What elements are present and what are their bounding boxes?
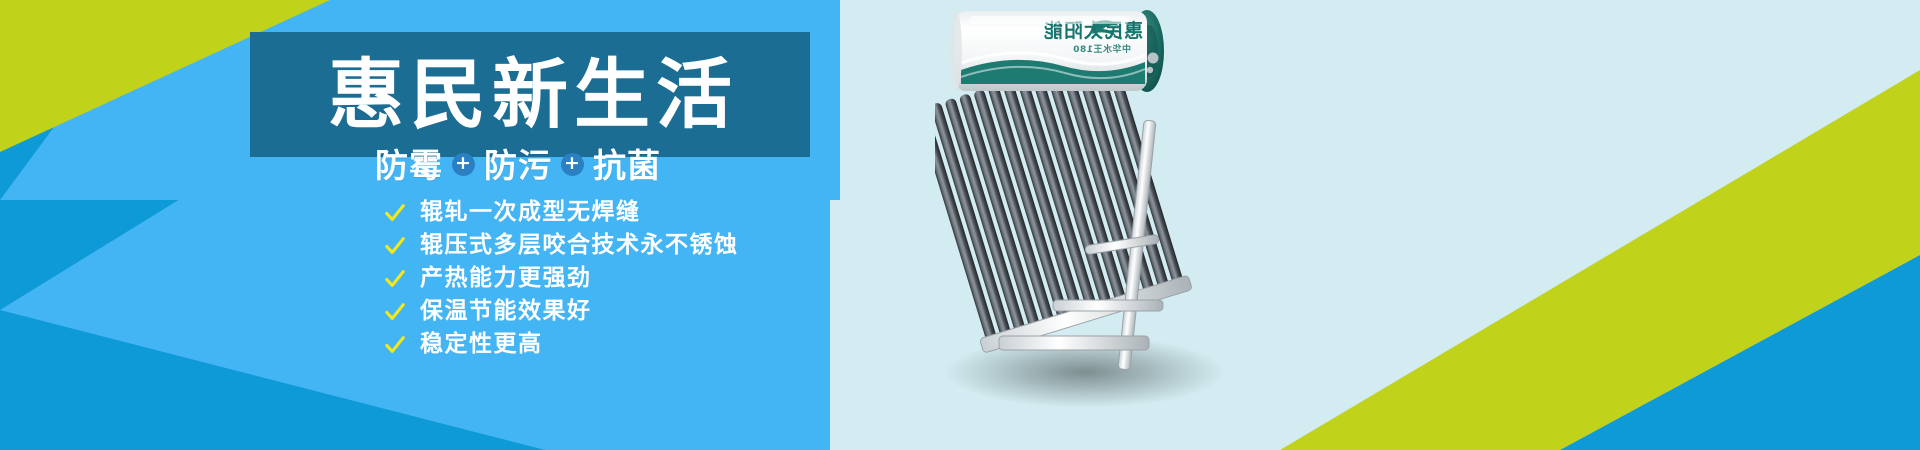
list-item: 稳定性更高 [384, 328, 864, 361]
feature-list: 辊轧一次成型无焊缝 辊压式多层咬合技术永不锈蚀 产热能力更强劲 保温节能效果好 [384, 196, 864, 361]
check-icon [384, 301, 406, 323]
plus-glyph: + [564, 154, 581, 173]
plus-glyph: + [455, 154, 472, 173]
plus-icon: + [561, 153, 584, 176]
list-item: 辊压式多层咬合技术永不锈蚀 [384, 229, 864, 262]
promo-banner: 惠民新生活 防霉 + 防污 + 抗菌 辊轧一次成型无焊缝 辊压式多层咬合技术永不… [0, 0, 1920, 450]
check-icon [384, 202, 406, 224]
subtitle-word-1: 防霉 [375, 139, 443, 187]
solar-water-heater-illustration: 惠民太阳能 中华水王180 [935, 0, 1265, 450]
product-image-solar-water-heater: 惠民太阳能 中华水王180 [935, 0, 1265, 450]
feature-label: 辊压式多层咬合技术永不锈蚀 [420, 234, 739, 257]
check-icon [384, 268, 406, 290]
feature-label: 保温节能效果好 [420, 300, 592, 323]
list-item: 保温节能效果好 [384, 295, 864, 328]
subtitle-word-2: 防污 [484, 139, 552, 187]
feature-label: 产热能力更强劲 [420, 267, 592, 290]
subtitle: 防霉 + 防污 + 抗菌 [375, 140, 665, 186]
list-item: 产热能力更强劲 [384, 262, 864, 295]
subtitle-word-3: 抗菌 [593, 139, 661, 187]
tank-model-text: 中华水王180 [1073, 43, 1131, 55]
feature-label: 稳定性更高 [420, 333, 543, 356]
plus-icon: + [452, 153, 475, 176]
check-icon [384, 235, 406, 257]
check-icon [384, 334, 406, 356]
storage-tank: 惠民太阳能 中华水王180 [950, 10, 1164, 92]
feature-label: 辊轧一次成型无焊缝 [420, 201, 641, 224]
list-item: 辊轧一次成型无焊缝 [384, 196, 864, 229]
